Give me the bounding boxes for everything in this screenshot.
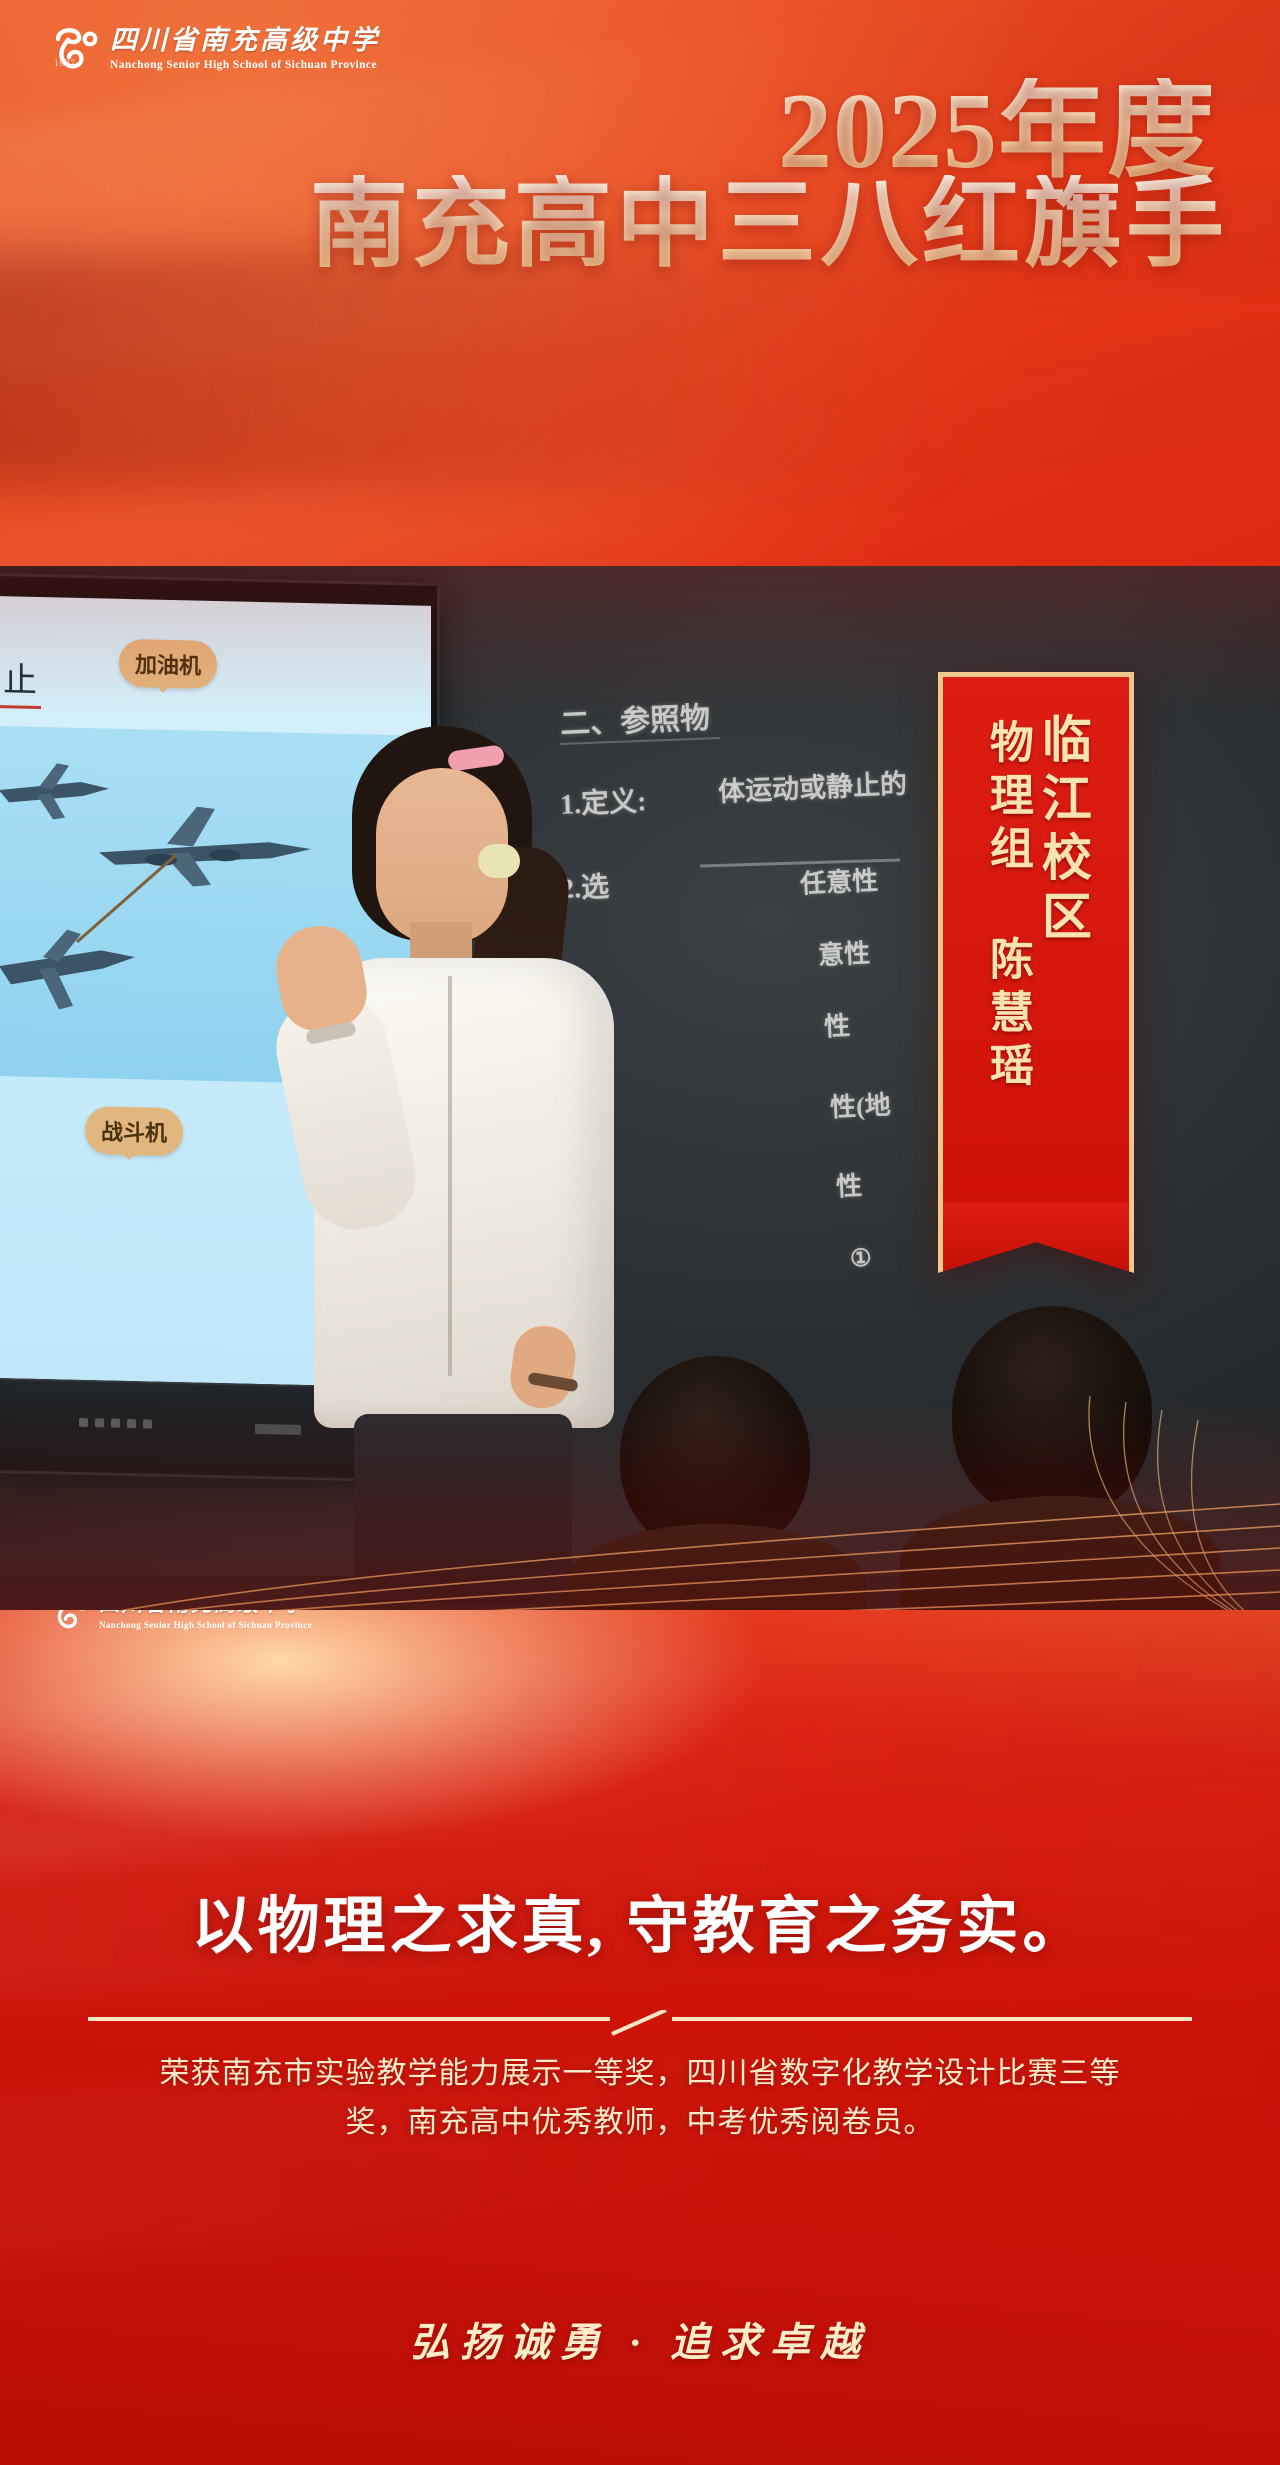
school-name-en: Nanchong Senior High School of Sichuan P… (110, 59, 380, 71)
footer-school-logo: 四川省南充高级中学 Nanchong Senior High School of… (52, 1610, 312, 1632)
slogan-text: 以物理之求真, 守教育之务实。 (0, 1875, 1280, 1965)
ribbon-body: 临江校区 物理组 陈慧瑶 (938, 672, 1134, 1212)
divider-ornament (0, 2010, 1280, 2036)
school-motto: 弘扬诚勇 · 追求卓越 (0, 2310, 1280, 2368)
student-shoulders (900, 1496, 1220, 1626)
footer-school-name-en: Nanchong Senior High School of Sichuan P… (99, 1620, 312, 1630)
slide-callout-bottom: 战斗机 (85, 1106, 183, 1156)
footer-school-name-cn: 四川省南充高级中学 (99, 1610, 312, 1618)
achievement-description: 荣获南充市实验教学能力展示一等奖，四川省数字化教学设计比赛三等奖，南充高中优秀教… (150, 2050, 1130, 2147)
hair-scrunchie (478, 844, 520, 878)
student-head (952, 1306, 1152, 1521)
shadow-sweep-decoration (0, 250, 1280, 490)
school-founded-year: 1927 (54, 58, 76, 68)
school-emblem-icon (52, 1610, 90, 1632)
screen-indicator-lights (79, 1418, 152, 1429)
teacher-figure (300, 726, 650, 1586)
lower-section: 四川省南充高级中学 Nanchong Senior High School of… (0, 1610, 1280, 2465)
award-poster: 四川省南充高级中学 Nanchong Senior High School of… (0, 0, 1280, 2465)
slide-heading: 照物静止 (0, 650, 41, 709)
ribbon-person: 物理组 陈慧瑶 (983, 713, 1030, 1167)
school-name-cn: 四川省南充高级中学 (110, 18, 380, 57)
shirt-placket (448, 976, 452, 1376)
ribbon-campus: 临江校区 (1036, 713, 1089, 1167)
screen-port (255, 1424, 301, 1435)
teacher-trousers (354, 1414, 572, 1604)
slide-callout-top: 加油机 (119, 639, 217, 689)
name-ribbon: 临江校区 物理组 陈慧瑶 (938, 672, 1134, 1212)
title-year-line: 2025年度 (778, 78, 1216, 186)
title-main-line: 南充高中三八红旗手 (0, 175, 1228, 277)
school-logo: 四川省南充高级中学 Nanchong Senior High School of… (52, 18, 380, 73)
